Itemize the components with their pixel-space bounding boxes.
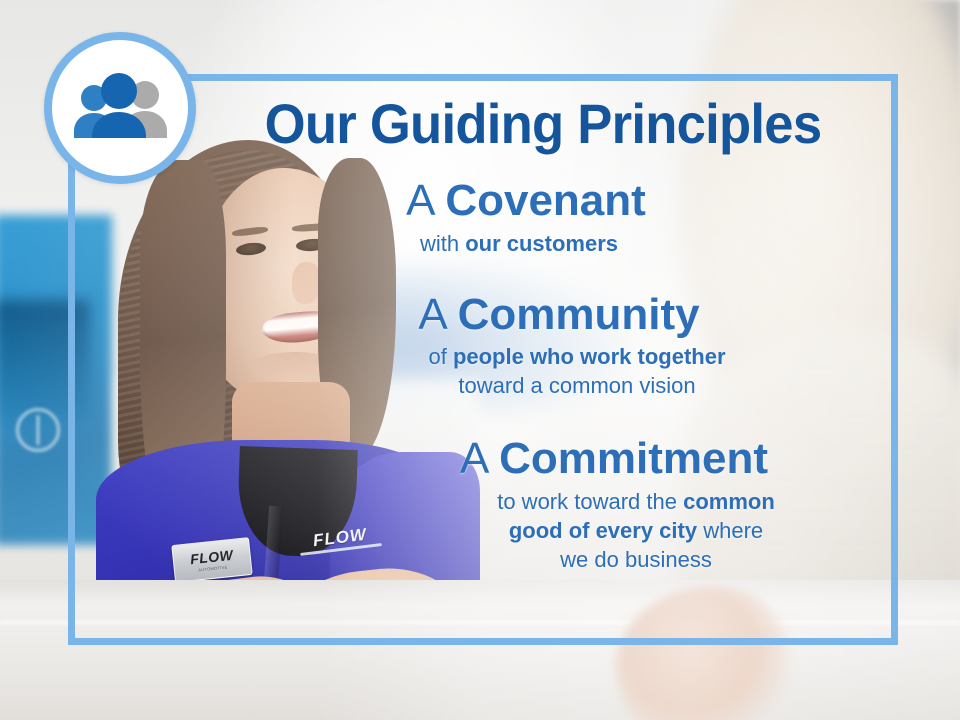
principle-sub-bold-2: good of every city [509, 518, 697, 543]
principle-sub-line-2: good of every city where [392, 516, 880, 545]
principle-keyword: Covenant [445, 176, 645, 225]
white-desk-surface [0, 580, 960, 720]
principle-keyword: Commitment [499, 434, 768, 483]
showroom-banner-shadow [0, 300, 90, 420]
principle-subtitle: with our customers [180, 229, 880, 258]
dealership-logo-sign [16, 408, 60, 452]
guiding-principles-graphic: FLOW AUTOMOTIVE FLOW Our Guiding Princ [0, 0, 960, 720]
principle-sub-tail-2: where [697, 518, 763, 543]
principle-community: A Community of people who work together … [180, 292, 880, 401]
principle-sub-lead: to work toward the [497, 489, 683, 514]
principle-covenant: A Covenant with our customers [180, 178, 880, 258]
principle-sub-line-3: we do business [392, 545, 880, 574]
principle-sub-lead: of [428, 344, 452, 369]
principles-list: A Covenant with our customers A Communit… [180, 178, 880, 580]
principle-sub-line-1: to work toward the common [392, 487, 880, 516]
principle-title: A Covenant [180, 178, 880, 225]
people-group-icon [44, 32, 196, 184]
principle-keyword: Community [458, 290, 700, 339]
principle-sub-lead: with [420, 231, 465, 256]
principle-article: A [460, 434, 499, 483]
desk-edge-highlight [0, 621, 960, 624]
principle-sub-line-1: of people who work together [274, 342, 880, 371]
principle-sub-bold: our customers [465, 231, 618, 256]
principle-subtitle: of people who work together toward a com… [180, 342, 880, 400]
principle-subtitle: to work toward the common good of every … [180, 487, 880, 574]
principle-title: A Community [180, 292, 880, 339]
principle-sub-bold: common [683, 489, 775, 514]
principle-article: A [406, 176, 445, 225]
principle-title: A Commitment [180, 436, 880, 483]
principle-sub-line-2: toward a common vision [274, 371, 880, 400]
principle-commitment: A Commitment to work toward the common g… [180, 436, 880, 574]
page-title: Our Guiding Principles [233, 96, 853, 152]
principle-sub-bold: people who work together [453, 344, 726, 369]
principle-article: A [418, 290, 457, 339]
